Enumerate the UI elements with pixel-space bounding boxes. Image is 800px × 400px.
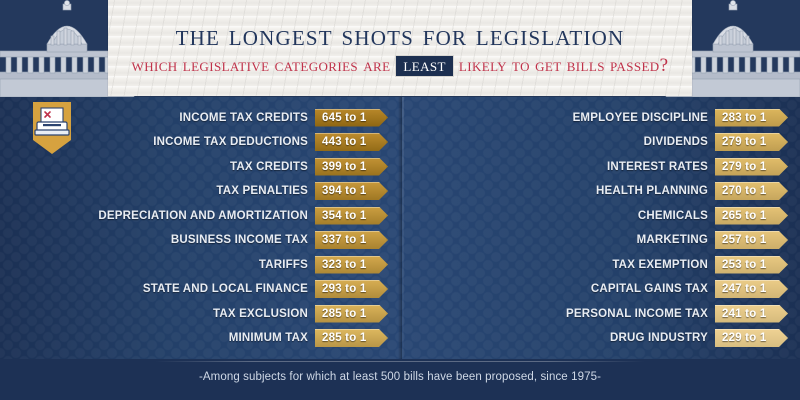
table-row: TAX PENALTIES 394 to 1 xyxy=(0,181,400,202)
value-text: 270 to 1 xyxy=(722,185,766,197)
value-text: 283 to 1 xyxy=(722,112,766,124)
row-label: CHEMICALS xyxy=(638,210,715,222)
chip-tail-icon xyxy=(386,182,395,200)
chip-tail-icon xyxy=(386,207,395,225)
row-label: TAX CREDITS xyxy=(230,161,315,173)
table-row: EMPLOYEE DISCIPLINE 283 to 1 xyxy=(400,107,800,128)
value-chip: 323 to 1 xyxy=(315,256,388,274)
value-chip: 283 to 1 xyxy=(715,109,788,127)
chip-tail-icon xyxy=(786,231,795,249)
value-text: 257 to 1 xyxy=(722,234,766,246)
chip-tail-icon xyxy=(386,158,395,176)
title-banner: The Longest Shots for LEGISLATION Which … xyxy=(108,0,692,96)
table-row: DEPRECIATION AND AMORTIZATION 354 to 1 xyxy=(0,205,400,226)
chip-tail-icon xyxy=(386,329,395,347)
table-row: CHEMICALS 265 to 1 xyxy=(400,205,800,226)
table-row: PERSONAL INCOME TAX 241 to 1 xyxy=(400,303,800,324)
value-text: 443 to 1 xyxy=(322,136,366,148)
chip-tail-icon xyxy=(786,207,795,225)
value-text: 241 to 1 xyxy=(722,308,766,320)
footer-note: -Among subjects for which at least 500 b… xyxy=(0,371,800,383)
chip-tail-icon xyxy=(786,109,795,127)
chip-tail-icon xyxy=(386,109,395,127)
row-label: EMPLOYEE DISCIPLINE xyxy=(573,112,715,124)
table-row: MARKETING 257 to 1 xyxy=(400,230,800,251)
chart-body: INCOME TAX CREDITS 645 to 1 INCOME TAX D… xyxy=(0,97,800,359)
table-row: CAPITAL GAINS TAX 247 to 1 xyxy=(400,279,800,300)
table-row: MINIMUM TAX 285 to 1 xyxy=(0,328,400,349)
value-chip: 293 to 1 xyxy=(315,280,388,298)
value-chip: 354 to 1 xyxy=(315,207,388,225)
chip-tail-icon xyxy=(786,182,795,200)
chip-tail-icon xyxy=(386,133,395,151)
table-row: INTEREST RATES 279 to 1 xyxy=(400,156,800,177)
value-chip: 265 to 1 xyxy=(715,207,788,225)
value-chip: 443 to 1 xyxy=(315,133,388,151)
value-chip: 229 to 1 xyxy=(715,329,788,347)
row-label: TAX PENALTIES xyxy=(216,185,315,197)
value-text: 279 to 1 xyxy=(722,161,766,173)
chip-tail-icon xyxy=(786,158,795,176)
row-label: MINIMUM TAX xyxy=(229,332,315,344)
chip-tail-icon xyxy=(386,256,395,274)
row-label: DIVIDENDS xyxy=(644,136,715,148)
least-highlight: Least xyxy=(395,55,453,78)
right-column: EMPLOYEE DISCIPLINE 283 to 1 DIVIDENDS 2… xyxy=(400,107,800,352)
value-chip: 241 to 1 xyxy=(715,305,788,323)
footer: -Among subjects for which at least 500 b… xyxy=(0,359,800,400)
value-text: 265 to 1 xyxy=(722,210,766,222)
table-row: HEALTH PLANNING 270 to 1 xyxy=(400,181,800,202)
value-chip: 253 to 1 xyxy=(715,256,788,274)
value-text: 354 to 1 xyxy=(322,210,366,222)
value-chip: 394 to 1 xyxy=(315,182,388,200)
table-row: STATE AND LOCAL FINANCE 293 to 1 xyxy=(0,279,400,300)
value-chip: 337 to 1 xyxy=(315,231,388,249)
table-row: TAX EXCLUSION 285 to 1 xyxy=(0,303,400,324)
table-row: TAX CREDITS 399 to 1 xyxy=(0,156,400,177)
value-text: 285 to 1 xyxy=(322,308,366,320)
row-label: TARIFFS xyxy=(259,259,315,271)
header-band: The Longest Shots for LEGISLATION Which … xyxy=(0,0,800,97)
value-chip: 247 to 1 xyxy=(715,280,788,298)
value-text: 253 to 1 xyxy=(722,259,766,271)
value-chip: 270 to 1 xyxy=(715,182,788,200)
value-text: 394 to 1 xyxy=(322,185,366,197)
table-row: INCOME TAX DEDUCTIONS 443 to 1 xyxy=(0,132,400,153)
chip-tail-icon xyxy=(386,305,395,323)
value-chip: 285 to 1 xyxy=(315,329,388,347)
subtitle-text-after: Likely to Get Bills Passed? xyxy=(459,55,669,77)
row-label: INCOME TAX CREDITS xyxy=(179,112,315,124)
chip-tail-icon xyxy=(786,305,795,323)
row-label: PERSONAL INCOME TAX xyxy=(566,308,715,320)
value-text: 323 to 1 xyxy=(322,259,366,271)
chip-tail-icon xyxy=(786,329,795,347)
value-text: 285 to 1 xyxy=(322,332,366,344)
value-text: 645 to 1 xyxy=(322,112,366,124)
row-label: HEALTH PLANNING xyxy=(596,185,715,197)
subtitle-text-before: Which Legislative Categories Are xyxy=(132,55,391,77)
table-row: TAX EXEMPTION 253 to 1 xyxy=(400,254,800,275)
row-label: DEPRECIATION AND AMORTIZATION xyxy=(98,210,315,222)
value-text: 229 to 1 xyxy=(722,332,766,344)
value-chip: 285 to 1 xyxy=(315,305,388,323)
footer-divider xyxy=(155,361,645,362)
value-chip: 399 to 1 xyxy=(315,158,388,176)
chip-tail-icon xyxy=(386,231,395,249)
table-row: INCOME TAX CREDITS 645 to 1 xyxy=(0,107,400,128)
page-subtitle: Which Legislative Categories Are Least L… xyxy=(132,55,669,78)
value-text: 293 to 1 xyxy=(322,283,366,295)
left-column: INCOME TAX CREDITS 645 to 1 INCOME TAX D… xyxy=(0,107,400,352)
row-label: TAX EXCLUSION xyxy=(213,308,315,320)
value-chip: 645 to 1 xyxy=(315,109,388,127)
value-text: 279 to 1 xyxy=(722,136,766,148)
page-title: The Longest Shots for LEGISLATION xyxy=(176,19,625,53)
chip-tail-icon xyxy=(386,280,395,298)
table-row: BUSINESS INCOME TAX 337 to 1 xyxy=(0,230,400,251)
row-label: TAX EXEMPTION xyxy=(612,259,715,271)
table-row: TARIFFS 323 to 1 xyxy=(0,254,400,275)
value-chip: 279 to 1 xyxy=(715,133,788,151)
value-chip: 279 to 1 xyxy=(715,158,788,176)
table-row: DIVIDENDS 279 to 1 xyxy=(400,132,800,153)
chip-tail-icon xyxy=(786,280,795,298)
value-text: 247 to 1 xyxy=(722,283,766,295)
chip-tail-icon xyxy=(786,133,795,151)
row-label: MARKETING xyxy=(637,234,715,246)
value-text: 399 to 1 xyxy=(322,161,366,173)
row-label: STATE AND LOCAL FINANCE xyxy=(143,283,315,295)
infographic-root: The Longest Shots for LEGISLATION Which … xyxy=(0,0,800,400)
row-label: INCOME TAX DEDUCTIONS xyxy=(153,136,315,148)
row-label: CAPITAL GAINS TAX xyxy=(591,283,715,295)
chip-tail-icon xyxy=(786,256,795,274)
row-label: DRUG INDUSTRY xyxy=(610,332,715,344)
table-row: DRUG INDUSTRY 229 to 1 xyxy=(400,328,800,349)
value-chip: 257 to 1 xyxy=(715,231,788,249)
row-label: INTEREST RATES xyxy=(607,161,715,173)
value-text: 337 to 1 xyxy=(322,234,366,246)
row-label: BUSINESS INCOME TAX xyxy=(171,234,315,246)
